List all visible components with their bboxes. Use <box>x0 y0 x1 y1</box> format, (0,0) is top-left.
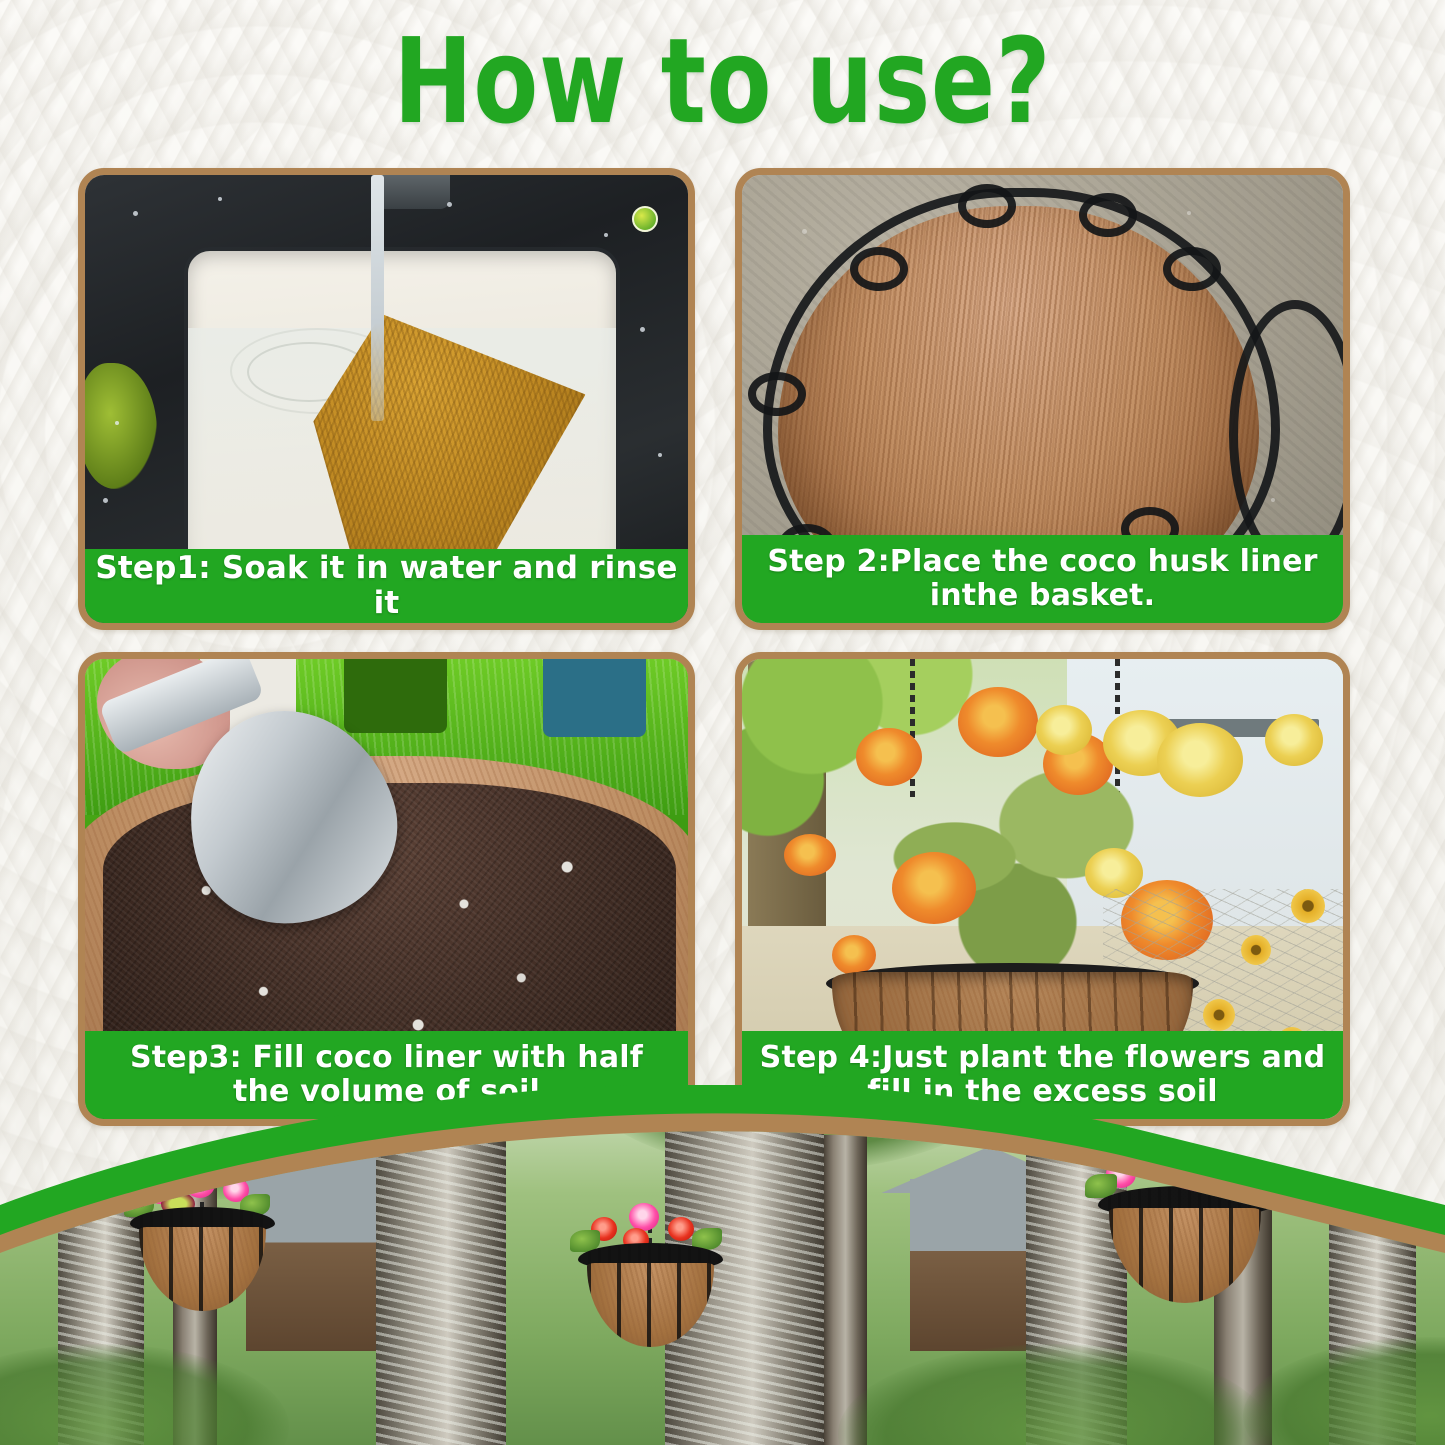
banner-photo <box>0 1085 1445 1445</box>
background-pot-shape <box>543 659 646 737</box>
water-speck <box>133 211 138 216</box>
yellow-daisy <box>1203 999 1235 1031</box>
petunia-bloom <box>856 728 922 786</box>
step-2-caption-line-1: Step 2:Place the coco husk liner <box>767 545 1317 579</box>
side-plant-shape <box>85 363 157 488</box>
coco-liner <box>1109 1208 1262 1303</box>
hanging-basket <box>1098 1186 1271 1308</box>
step-1-caption-line-1: Step1: Soak it in water and rinse it <box>85 551 688 620</box>
petunia-bloom <box>832 935 876 975</box>
step-2-caption: Step 2:Place the coco husk liner inthe b… <box>742 535 1343 623</box>
concrete-grit <box>1187 211 1191 215</box>
water-stream-shape <box>371 175 384 421</box>
yellow-daisy <box>1291 889 1325 923</box>
step-4-caption-line-1: Step 4:Just plant the flowers and <box>760 1041 1326 1075</box>
step-2-caption-line-2: inthe basket. <box>767 579 1317 613</box>
page-title: How to use? <box>145 22 1301 142</box>
bottom-banner <box>0 1085 1445 1445</box>
hanging-basket <box>578 1243 723 1351</box>
yellow-daisy <box>1241 935 1271 965</box>
petunia-bloom <box>784 834 836 876</box>
water-speck <box>604 233 608 237</box>
forest-scene <box>0 1085 1445 1445</box>
wire-loop <box>1079 193 1137 237</box>
water-speck <box>658 453 662 457</box>
coco-liner <box>139 1227 266 1311</box>
step-card-3[interactable]: Step3: Fill coco liner with half the vol… <box>78 652 695 1126</box>
undergrowth <box>1243 1337 1445 1445</box>
water-speck <box>447 202 452 207</box>
coco-liner <box>587 1263 714 1347</box>
pink-flower <box>629 1203 659 1231</box>
wire-loop <box>1163 247 1221 291</box>
step-card-2[interactable]: Step 2:Place the coco husk liner inthe b… <box>735 168 1350 630</box>
hanging-basket <box>130 1207 275 1315</box>
wire-loop <box>748 372 806 416</box>
water-speck <box>218 197 222 201</box>
green-sticker-icon <box>632 206 658 232</box>
petunia-bloom <box>958 687 1038 757</box>
undergrowth <box>0 1344 289 1445</box>
step-3-caption-line-1: Step3: Fill coco liner with half <box>130 1041 643 1075</box>
petunia-bloom <box>1157 723 1243 797</box>
background-pot-shape <box>344 659 447 733</box>
water-speck <box>103 498 108 503</box>
undergrowth <box>838 1344 1272 1445</box>
step-card-1[interactable]: Step1: Soak it in water and rinse it <box>78 168 695 630</box>
faucet-shape <box>374 175 450 209</box>
step-1-caption: Step1: Soak it in water and rinse it <box>85 549 688 623</box>
wire-loop <box>958 184 1016 228</box>
red-flower <box>668 1217 694 1241</box>
petunia-bloom <box>1265 714 1323 766</box>
steps-grid: Step1: Soak it in water and rinse it Ste… <box>78 168 1350 1126</box>
wire-loop <box>850 247 908 291</box>
step-card-4[interactable]: Step 4:Just plant the flowers and fill i… <box>735 652 1350 1126</box>
water-speck <box>640 327 645 332</box>
concrete-grit <box>802 229 807 234</box>
petunia-bloom <box>892 852 976 924</box>
